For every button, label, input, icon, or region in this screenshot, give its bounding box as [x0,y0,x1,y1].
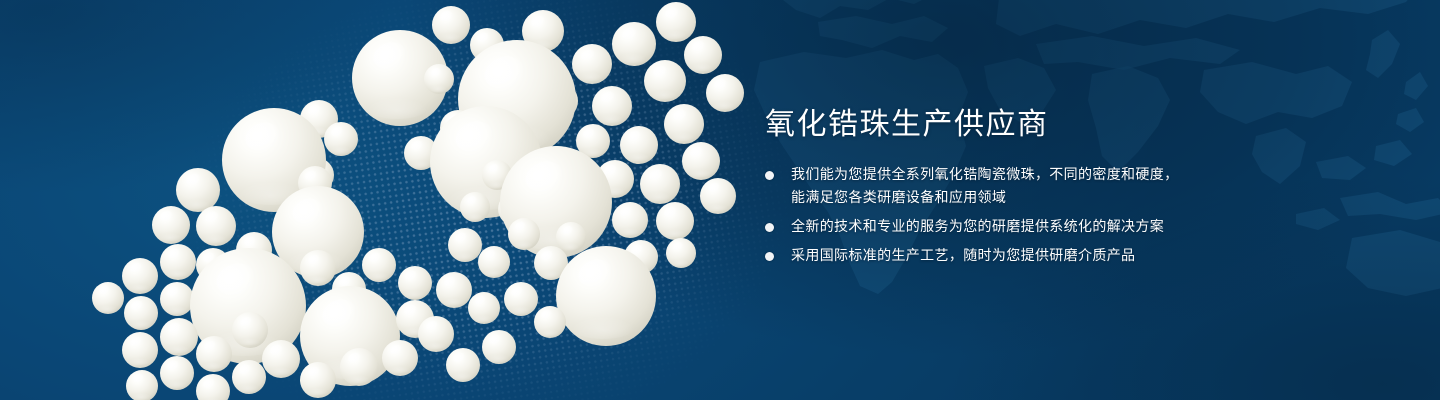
bullet-dot-icon [765,223,774,232]
hero-banner: 氧化锆珠生产供应商 我们能为您提供全系列氧化锆陶瓷微珠，不同的密度和硬度， 能满… [0,0,1440,400]
feature-list: 我们能为您提供全系列氧化锆陶瓷微珠，不同的密度和硬度， 能满足您各类研磨设备和应… [765,164,1365,268]
banner-content: 氧化锆珠生产供应商 我们能为您提供全系列氧化锆陶瓷微珠，不同的密度和硬度， 能满… [765,108,1365,268]
list-item-text: 采用国际标准的生产工艺，随时为您提供研磨介质产品 [791,245,1365,268]
bullet-dot-icon [765,252,774,261]
list-item-line: 全新的技术和专业的服务为您的研磨提供系统化的解决方案 [791,216,1365,239]
list-item: 全新的技术和专业的服务为您的研磨提供系统化的解决方案 [765,216,1365,239]
list-item-text: 我们能为您提供全系列氧化锆陶瓷微珠，不同的密度和硬度， 能满足您各类研磨设备和应… [791,164,1365,210]
list-item-line: 能满足您各类研磨设备和应用领域 [791,187,1365,210]
list-item: 采用国际标准的生产工艺，随时为您提供研磨介质产品 [765,245,1365,268]
page-title: 氧化锆珠生产供应商 [765,108,1365,142]
bullet-dot-icon [765,171,774,180]
list-item-text: 全新的技术和专业的服务为您的研磨提供系统化的解决方案 [791,216,1365,239]
list-item-line: 我们能为您提供全系列氧化锆陶瓷微珠，不同的密度和硬度， [791,164,1365,187]
list-item-line: 采用国际标准的生产工艺，随时为您提供研磨介质产品 [791,245,1365,268]
list-item: 我们能为您提供全系列氧化锆陶瓷微珠，不同的密度和硬度， 能满足您各类研磨设备和应… [765,164,1365,210]
